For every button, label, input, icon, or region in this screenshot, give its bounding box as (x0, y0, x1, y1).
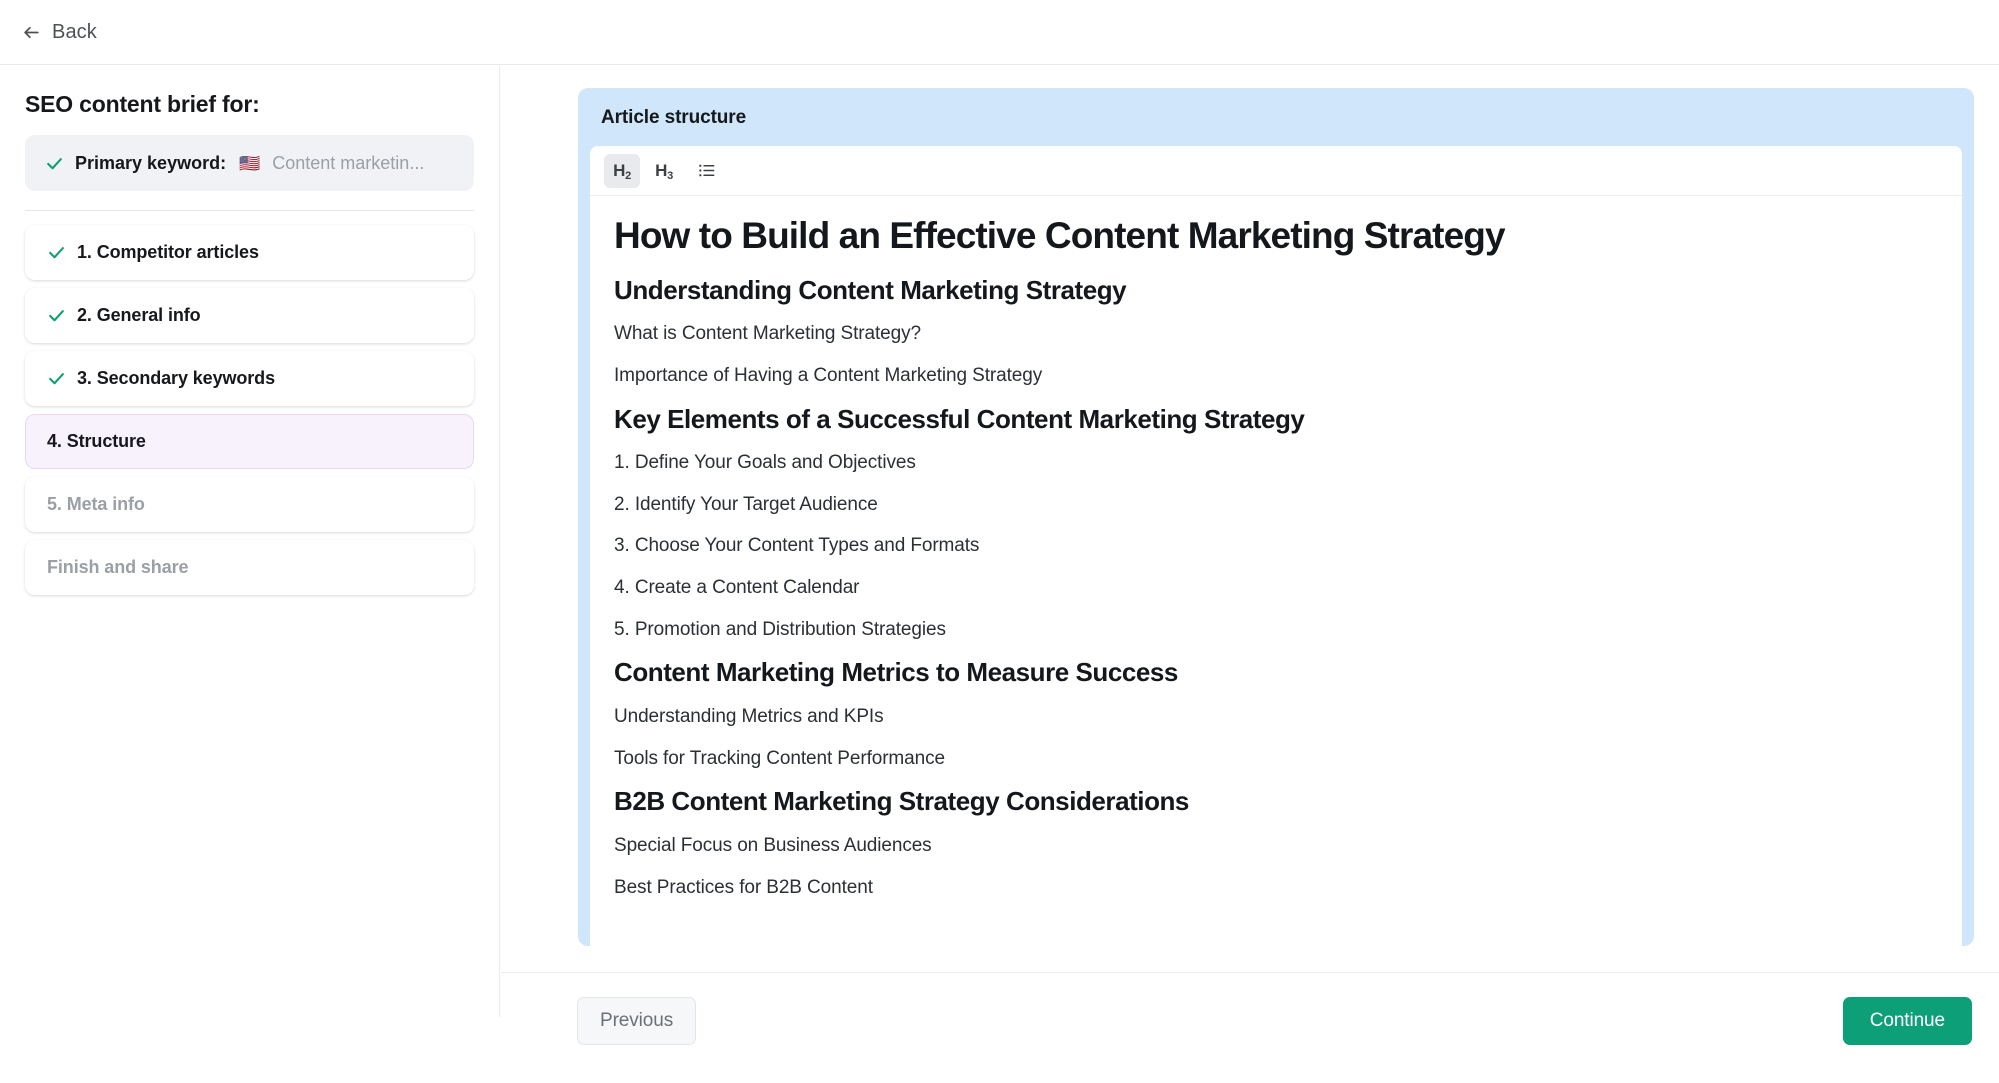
document-heading-3[interactable]: 5. Promotion and Distribution Strategies (614, 609, 1938, 651)
document-heading-3[interactable]: Importance of Having a Content Marketing… (614, 355, 1938, 397)
sidebar-item-finish-and-share[interactable]: Finish and share (25, 540, 474, 595)
article-structure-panel: Article structure H2 H3 (578, 88, 1974, 946)
heading-2-button[interactable]: H2 (604, 154, 640, 188)
bullet-list-button[interactable] (688, 154, 724, 188)
document-heading-2[interactable]: Content Marketing Metrics to Measure Suc… (614, 650, 1938, 696)
document-heading-3[interactable]: Tools for Tracking Content Performance (614, 738, 1938, 780)
sidebar-item-meta-info[interactable]: 5. Meta info (25, 477, 474, 532)
footer-bar: Previous Continue (501, 972, 1999, 1083)
check-icon (47, 369, 66, 388)
check-icon (47, 243, 66, 262)
document-body[interactable]: How to Build an Effective Content Market… (590, 196, 1962, 946)
document-heading-3[interactable]: 1. Define Your Goals and Objectives (614, 442, 1938, 484)
document-heading-3[interactable]: 3. Choose Your Content Types and Formats (614, 525, 1938, 567)
document-heading-3[interactable]: What is Content Marketing Strategy? (614, 313, 1938, 355)
primary-keyword-label: Primary keyword: (75, 153, 226, 174)
us-flag-icon: 🇺🇸 (239, 155, 260, 172)
document-heading-3[interactable]: Best Practices for B2B Content (614, 867, 1938, 909)
document-heading-2[interactable]: Understanding Content Marketing Strategy (614, 268, 1938, 314)
sidebar-step-list: 1. Competitor articles 2. General info 3… (25, 225, 474, 595)
document-heading-3[interactable]: 2. Identify Your Target Audience (614, 484, 1938, 526)
heading-2-label: H2 (613, 161, 631, 181)
check-icon (45, 154, 64, 173)
document-title[interactable]: How to Build an Effective Content Market… (614, 214, 1938, 258)
document-heading-3[interactable]: 4. Create a Content Calendar (614, 567, 1938, 609)
sidebar-item-label: 5. Meta info (47, 494, 145, 515)
arrow-left-icon (22, 23, 41, 42)
sidebar-item-general-info[interactable]: 2. General info (25, 288, 474, 343)
primary-keyword-value: Content marketin... (272, 153, 424, 174)
heading-3-button[interactable]: H3 (646, 154, 682, 188)
sidebar-divider (25, 210, 474, 211)
editor-toolbar: H2 H3 (590, 146, 1962, 196)
document-heading-3[interactable]: Understanding Metrics and KPIs (614, 696, 1938, 738)
sidebar-item-structure[interactable]: 4. Structure (25, 414, 474, 469)
sidebar: SEO content brief for: Primary keyword: … (0, 66, 500, 1017)
document-heading-3[interactable]: Special Focus on Business Audiences (614, 825, 1938, 867)
continue-button[interactable]: Continue (1843, 997, 1972, 1045)
sidebar-item-label: 2. General info (77, 305, 201, 326)
page-title: SEO content brief for: (25, 91, 474, 118)
document-blocks: Understanding Content Marketing Strategy… (614, 268, 1938, 909)
panel-title: Article structure (578, 88, 1974, 129)
back-button-label: Back (52, 21, 97, 44)
heading-3-label: H3 (655, 161, 673, 181)
sidebar-item-secondary-keywords[interactable]: 3. Secondary keywords (25, 351, 474, 406)
main-content: Article structure H2 H3 (501, 66, 1999, 1017)
bullet-list-icon (697, 161, 716, 180)
back-button[interactable]: Back (14, 15, 105, 50)
sidebar-item-primary-keyword[interactable]: Primary keyword: 🇺🇸 Content marketin... (25, 135, 474, 191)
top-bar: Back (0, 0, 1999, 65)
document-heading-2[interactable]: B2B Content Marketing Strategy Considera… (614, 779, 1938, 825)
sidebar-item-competitor-articles[interactable]: 1. Competitor articles (25, 225, 474, 280)
previous-button[interactable]: Previous (577, 997, 696, 1045)
sidebar-item-label: 4. Structure (47, 431, 146, 452)
structure-editor[interactable]: H2 H3 (590, 146, 1962, 946)
sidebar-item-label: Finish and share (47, 557, 188, 578)
check-icon (47, 306, 66, 325)
sidebar-item-label: 3. Secondary keywords (77, 368, 275, 389)
document-heading-2[interactable]: Key Elements of a Successful Content Mar… (614, 397, 1938, 443)
sidebar-item-label: 1. Competitor articles (77, 242, 259, 263)
